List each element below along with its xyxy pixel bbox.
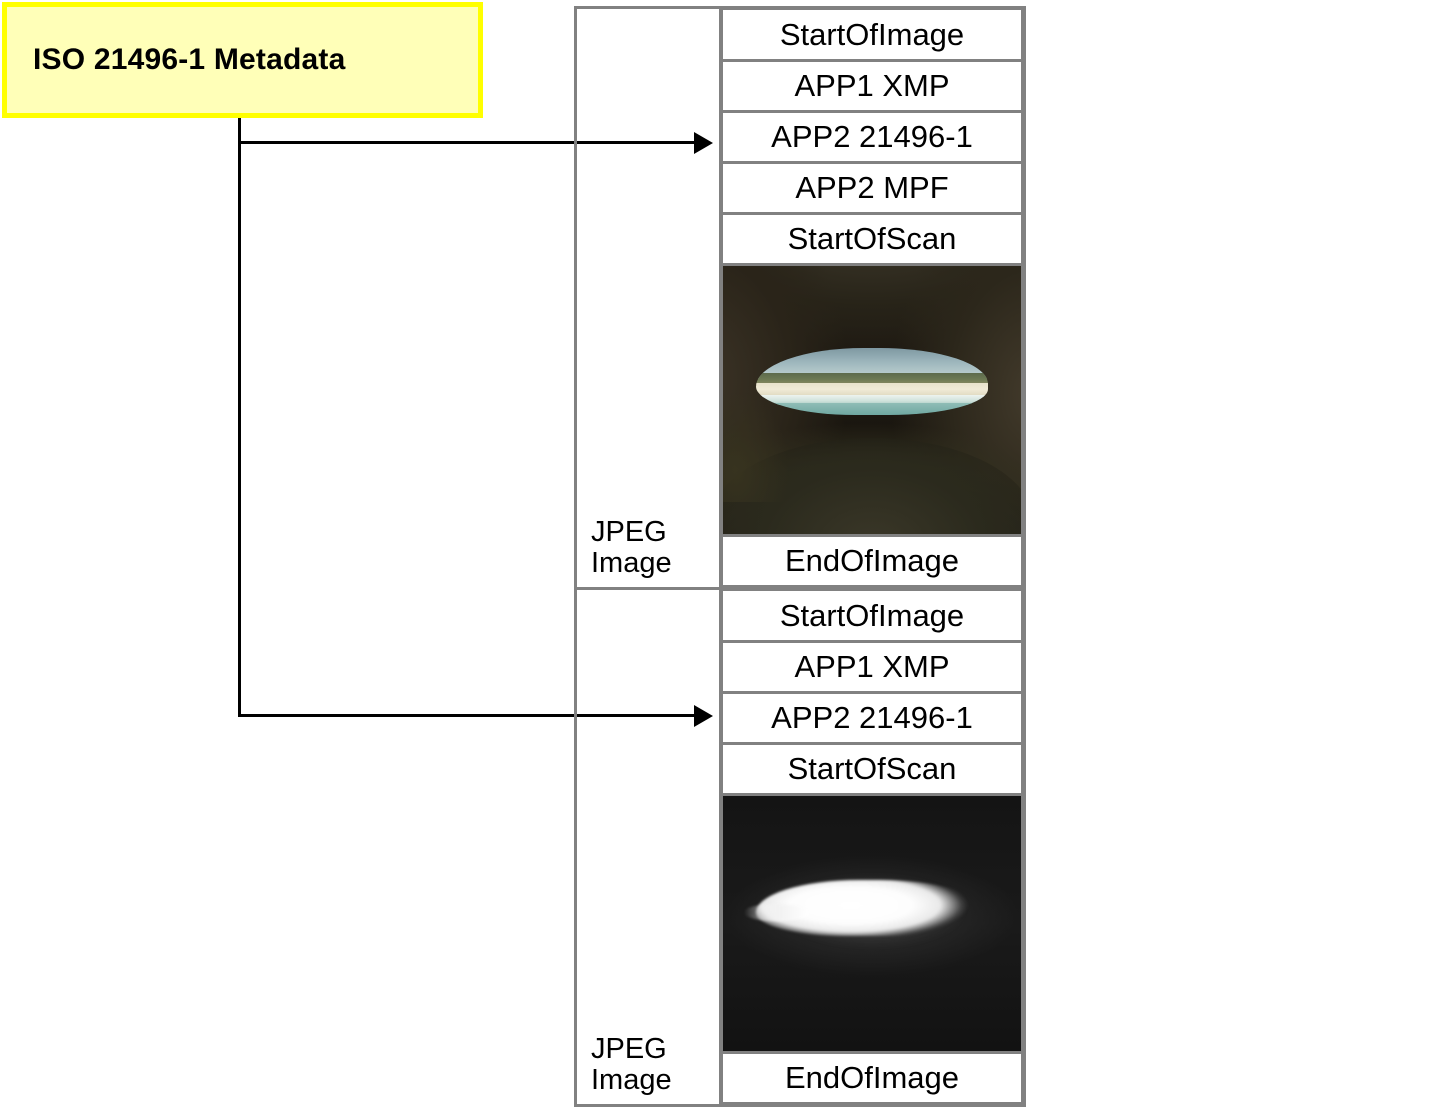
- segment-row: StartOfImage: [721, 8, 1023, 61]
- iso-metadata-label: ISO 21496-1 Metadata: [33, 43, 345, 77]
- gain-map-preview: [721, 794, 1023, 1053]
- jpeg-block-gainmap: JPEG Image StartOfImage APP1 XMP APP2 21…: [577, 590, 1023, 1104]
- segment-row-app2-21496: APP2 21496-1: [721, 111, 1023, 163]
- jpeg-block-gainmap-segments: StartOfImage APP1 XMP APP2 21496-1 Start…: [722, 590, 1023, 1104]
- segment-row: APP2 MPF: [721, 162, 1023, 214]
- segment-row-end-of-image: EndOfImage: [721, 535, 1023, 587]
- segment-row: StartOfScan: [721, 743, 1023, 795]
- segment-row-app2-21496: APP2 21496-1: [721, 692, 1023, 744]
- gain-map-image: [723, 796, 1021, 1051]
- left-rock-ledge: [721, 395, 806, 502]
- segment-row: StartOfScan: [721, 213, 1023, 265]
- jpeg-block-primary: JPEG Image StartOfImage APP1 XMP APP2 21…: [577, 9, 1023, 590]
- jpeg-label-line-1: JPEG: [591, 517, 719, 548]
- gain-map-bright-tail: [744, 904, 810, 921]
- jpeg-label-line-2: Image: [591, 1065, 719, 1096]
- segment-row: APP1 XMP: [721, 60, 1023, 112]
- jpeg-label-line-2: Image: [591, 548, 719, 579]
- iso-metadata-box: ISO 21496-1 Metadata: [2, 2, 483, 118]
- cave-photo: [723, 266, 1021, 534]
- jpeg-label-line-1: JPEG: [591, 1034, 719, 1065]
- jpeg-block-gainmap-label: JPEG Image: [577, 590, 722, 1104]
- segment-row: APP1 XMP: [721, 641, 1023, 693]
- primary-image-preview: [721, 264, 1023, 536]
- metadata-trunk-line: [238, 118, 241, 717]
- segment-row: StartOfImage: [721, 589, 1023, 642]
- jpeg-block-primary-label: JPEG Image: [577, 9, 722, 587]
- jpeg-block-primary-segments: StartOfImage APP1 XMP APP2 21496-1 APP2 …: [722, 9, 1023, 587]
- segment-row-end-of-image: EndOfImage: [721, 1052, 1023, 1104]
- jpeg-file-structure: JPEG Image StartOfImage APP1 XMP APP2 21…: [574, 6, 1026, 1107]
